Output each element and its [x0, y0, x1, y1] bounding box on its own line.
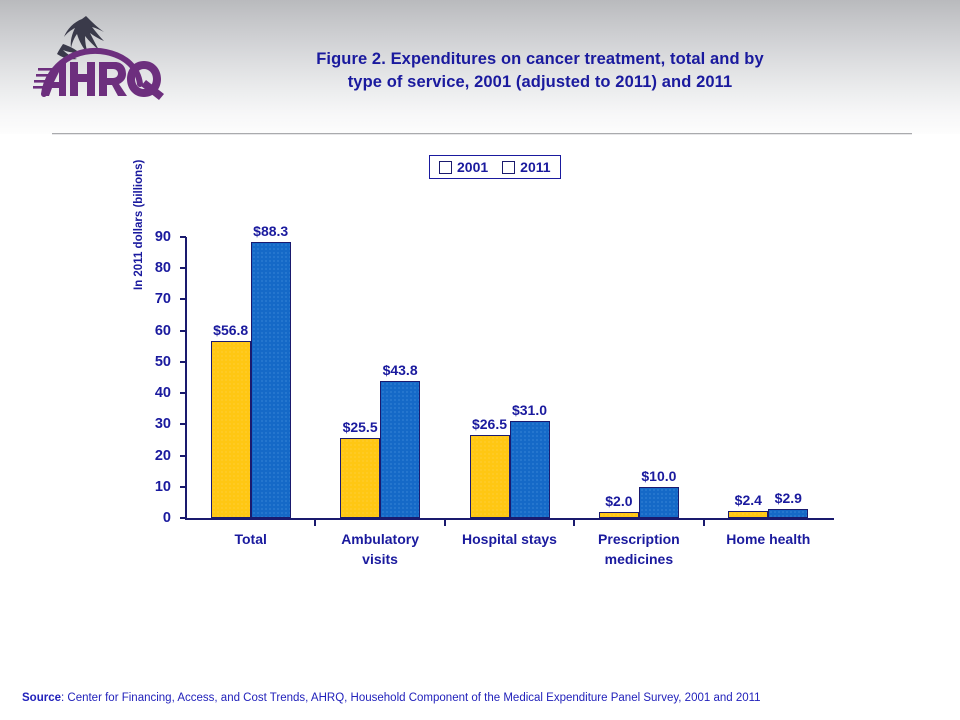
- legend-label-2011: 2011: [520, 159, 550, 175]
- source-note: Source: Center for Financing, Access, an…: [22, 692, 761, 704]
- category-label-home-health: Home health: [704, 529, 833, 549]
- source-label: Source: [22, 692, 61, 704]
- bar-value-label: $10.0: [641, 468, 676, 484]
- category-axis-tick: [573, 518, 575, 526]
- category-label-line: Hospital stays: [445, 529, 574, 549]
- page-title: Figure 2. Expenditures on cancer treatme…: [190, 48, 890, 94]
- bar-value-label: $25.5: [343, 419, 378, 435]
- y-axis-tick: 30: [180, 423, 186, 425]
- bar-value-label: $43.8: [383, 362, 418, 378]
- bar-2011-hospital-stays: $31.0: [510, 421, 550, 518]
- y-axis-tick-label: 0: [163, 510, 171, 526]
- y-axis-tick-label: 80: [155, 260, 171, 276]
- bar-2001-hospital-stays: $26.5: [470, 435, 510, 518]
- y-axis-tick: 60: [180, 330, 186, 332]
- bar-2001-ambulatory-visits: $25.5: [340, 438, 380, 518]
- category-label-line: Prescription: [574, 529, 703, 549]
- page-header: Figure 2. Expenditures on cancer treatme…: [0, 0, 960, 134]
- y-axis-tick-label: 70: [155, 291, 171, 307]
- bar-value-label: $26.5: [472, 416, 507, 432]
- y-axis-tick-label: 60: [155, 323, 171, 339]
- x-axis-line: [185, 518, 834, 520]
- page-title-line-2: type of service, 2001 (adjusted to 2011)…: [190, 71, 890, 94]
- y-axis-tick: 10: [180, 486, 186, 488]
- y-axis-title: In 2011 dollars (billions): [133, 272, 145, 290]
- y-axis-tick-label: 30: [155, 416, 171, 432]
- y-axis-tick-label: 20: [155, 448, 171, 464]
- ahrq-logo: [30, 8, 170, 106]
- legend-swatch-2001: [439, 161, 452, 174]
- y-axis-tick-label: 40: [155, 385, 171, 401]
- category-label-line: Total: [186, 529, 315, 549]
- y-axis-line: [185, 237, 187, 519]
- legend-label-2001: 2001: [457, 159, 488, 175]
- bar-2011-home-health: $2.9: [768, 509, 808, 518]
- category-label-line: medicines: [574, 549, 703, 569]
- y-axis-tick: 90: [180, 236, 186, 238]
- y-axis-tick: 80: [180, 267, 186, 269]
- bar-2001-prescription-medicines: $2.0: [599, 512, 639, 518]
- bar-value-label: $56.8: [213, 322, 248, 338]
- legend-swatch-2011: [502, 161, 515, 174]
- category-axis-tick: [703, 518, 705, 526]
- y-axis-tick-label: 10: [155, 479, 171, 495]
- bar-2001-home-health: $2.4: [728, 511, 768, 518]
- bar-2011-ambulatory-visits: $43.8: [380, 381, 420, 518]
- legend-item-2001: 2001: [439, 159, 488, 175]
- bar-value-label: $2.9: [775, 490, 802, 506]
- header-divider: [52, 133, 912, 135]
- bar-2001-total: $56.8: [211, 341, 251, 518]
- bar-2011-total: $88.3: [251, 242, 291, 518]
- category-label-ambulatory-visits: Ambulatoryvisits: [315, 529, 444, 569]
- ahrq-wordmark: [33, 61, 164, 100]
- category-axis-tick: [444, 518, 446, 526]
- category-label-line: Home health: [704, 529, 833, 549]
- category-label-total: Total: [186, 529, 315, 549]
- bar-value-label: $2.4: [735, 492, 762, 508]
- bar-value-label: $31.0: [512, 402, 547, 418]
- category-label-prescription-medicines: Prescriptionmedicines: [574, 529, 703, 569]
- y-axis-tick: 0: [180, 517, 186, 519]
- y-axis-tick: 40: [180, 392, 186, 394]
- y-axis-tick: 50: [180, 361, 186, 363]
- chart-legend: 2001 2011: [429, 155, 561, 179]
- bar-value-label: $88.3: [253, 223, 288, 239]
- legend-item-2011: 2011: [502, 159, 550, 175]
- y-axis-tick-label: 90: [155, 229, 171, 245]
- y-axis-tick-label: 50: [155, 354, 171, 370]
- category-label-line: visits: [315, 549, 444, 569]
- category-axis-tick: [314, 518, 316, 526]
- bar-value-label: $2.0: [605, 493, 632, 509]
- bar-2011-prescription-medicines: $10.0: [639, 487, 679, 518]
- y-axis-tick: 20: [180, 455, 186, 457]
- source-text: : Center for Financing, Access, and Cost…: [61, 692, 761, 704]
- category-label-line: Ambulatory: [315, 529, 444, 549]
- ahrq-logo-svg: [30, 8, 170, 106]
- y-axis-tick: 70: [180, 298, 186, 300]
- page-title-line-1: Figure 2. Expenditures on cancer treatme…: [190, 48, 890, 71]
- category-label-hospital-stays: Hospital stays: [445, 529, 574, 549]
- plot-area: 0102030405060708090 $56.8$88.3$25.5$43.8…: [186, 237, 833, 518]
